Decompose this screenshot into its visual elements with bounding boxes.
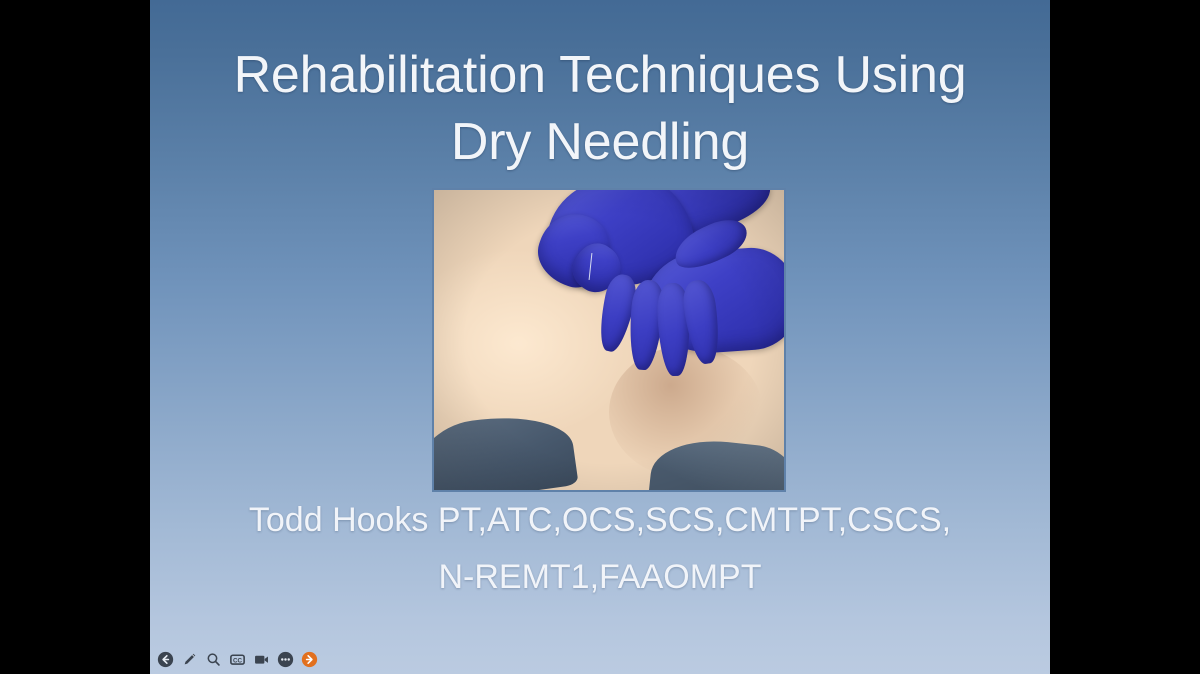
closed-caption-icon: CC bbox=[229, 651, 246, 668]
search-icon bbox=[205, 651, 222, 668]
media-player: Rehabilitation Techniques Using Dry Need… bbox=[0, 0, 1200, 674]
pencil-icon bbox=[181, 651, 198, 668]
player-toolbar: CC bbox=[150, 644, 1050, 674]
letterbox-left bbox=[0, 0, 150, 674]
slide-author-credit: Todd Hooks PT,ATC,OCS,SCS,CMTPT,CSCS, N-… bbox=[150, 492, 1050, 606]
more-button[interactable] bbox=[274, 648, 296, 670]
back-icon bbox=[157, 651, 174, 668]
svg-text:CC: CC bbox=[232, 657, 242, 664]
letterbox-right bbox=[1050, 0, 1200, 674]
next-button[interactable] bbox=[298, 648, 320, 670]
slide-title-line-1: Rehabilitation Techniques Using bbox=[150, 42, 1050, 109]
slide-title: Rehabilitation Techniques Using Dry Need… bbox=[150, 42, 1050, 175]
back-button[interactable] bbox=[154, 648, 176, 670]
author-credit-line-1: Todd Hooks PT,ATC,OCS,SCS,CMTPT,CSCS, bbox=[150, 492, 1050, 549]
search-button[interactable] bbox=[202, 648, 224, 670]
presentation-slide: Rehabilitation Techniques Using Dry Need… bbox=[150, 0, 1050, 674]
slide-title-line-2: Dry Needling bbox=[150, 109, 1050, 176]
dry-needling-photo bbox=[434, 190, 784, 490]
author-credit-line-2: N-REMT1,FAAOMPT bbox=[150, 549, 1050, 606]
photo-vignette bbox=[434, 190, 784, 490]
video-camera-icon bbox=[253, 651, 270, 668]
video-button[interactable] bbox=[250, 648, 272, 670]
next-icon bbox=[301, 651, 318, 668]
slide-image-frame bbox=[432, 188, 786, 492]
more-icon bbox=[277, 651, 294, 668]
annotate-button[interactable] bbox=[178, 648, 200, 670]
closed-caption-button[interactable]: CC bbox=[226, 648, 248, 670]
